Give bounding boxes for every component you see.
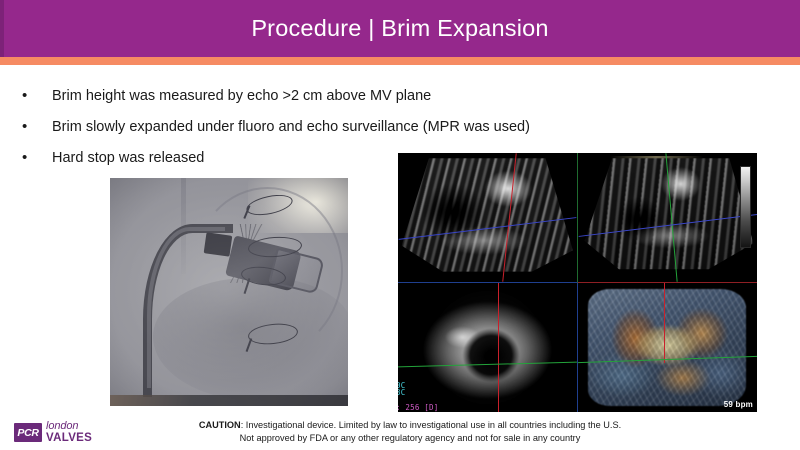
bullet-marker-icon: • — [18, 86, 40, 106]
echo-heart-rate: 59 bpm — [724, 400, 753, 409]
caution-line-1: CAUTION: Investigational device. Limited… — [120, 419, 700, 432]
echo-quadrant-bottom-right: 59 bpm — [578, 283, 758, 413]
fluoro-vignette — [110, 178, 348, 406]
ultrasound-short-axis — [398, 283, 577, 413]
echo-overlay-frame: : 256 [D] — [398, 403, 438, 412]
ultrasound-3d-render — [588, 289, 746, 406]
header-left-edge — [0, 0, 4, 57]
caution-label: CAUTION — [199, 420, 241, 430]
pcr-london-valves-logo: PCR london VALVES — [14, 421, 92, 445]
fluoro-bottom-bar — [110, 395, 348, 406]
echo-quadrant-top-left — [398, 153, 578, 283]
echo-quadrant-top-right — [578, 153, 758, 283]
echo-mpr-image: 0C 3C : 256 [D] 59 bpm — [398, 153, 757, 412]
page-title: Procedure | Brim Expansion — [251, 15, 548, 42]
echo-overlay-line2: 3C — [398, 388, 405, 397]
ultrasound-sector — [402, 158, 573, 276]
logo-valves-text: VALVES — [46, 433, 92, 445]
caution-statement: CAUTION: Investigational device. Limited… — [120, 419, 700, 445]
ultrasound-3d-texture — [588, 289, 746, 406]
ultrasound-sector — [581, 158, 753, 276]
accent-stripe — [0, 57, 800, 65]
logo-wordmark: london VALVES — [46, 421, 92, 445]
grayscale-colorbar — [740, 166, 751, 248]
list-item: • Brim slowly expanded under fluoro and … — [18, 117, 638, 148]
bullet-marker-icon: • — [18, 148, 40, 168]
bullet-text: Brim height was measured by echo >2 cm a… — [40, 86, 431, 106]
logo-london-text: london — [46, 421, 92, 432]
caution-line-2: Not approved by FDA or any other regulat… — [120, 432, 700, 445]
slide-header: Procedure | Brim Expansion — [0, 0, 800, 57]
bullet-text: Brim slowly expanded under fluoro and ec… — [40, 117, 530, 137]
pcr-logo-text: PCR — [17, 427, 38, 439]
bullet-marker-icon: • — [18, 117, 40, 137]
list-item: • Brim height was measured by echo >2 cm… — [18, 86, 638, 117]
caution-line1-text: : Investigational device. Limited by law… — [241, 420, 621, 430]
fluoroscopy-image — [110, 178, 348, 406]
bullet-text: Hard stop was released — [40, 148, 204, 168]
echo-quadrant-bottom-left: 0C 3C : 256 [D] — [398, 283, 578, 413]
pcr-logo-mark: PCR — [14, 423, 42, 442]
